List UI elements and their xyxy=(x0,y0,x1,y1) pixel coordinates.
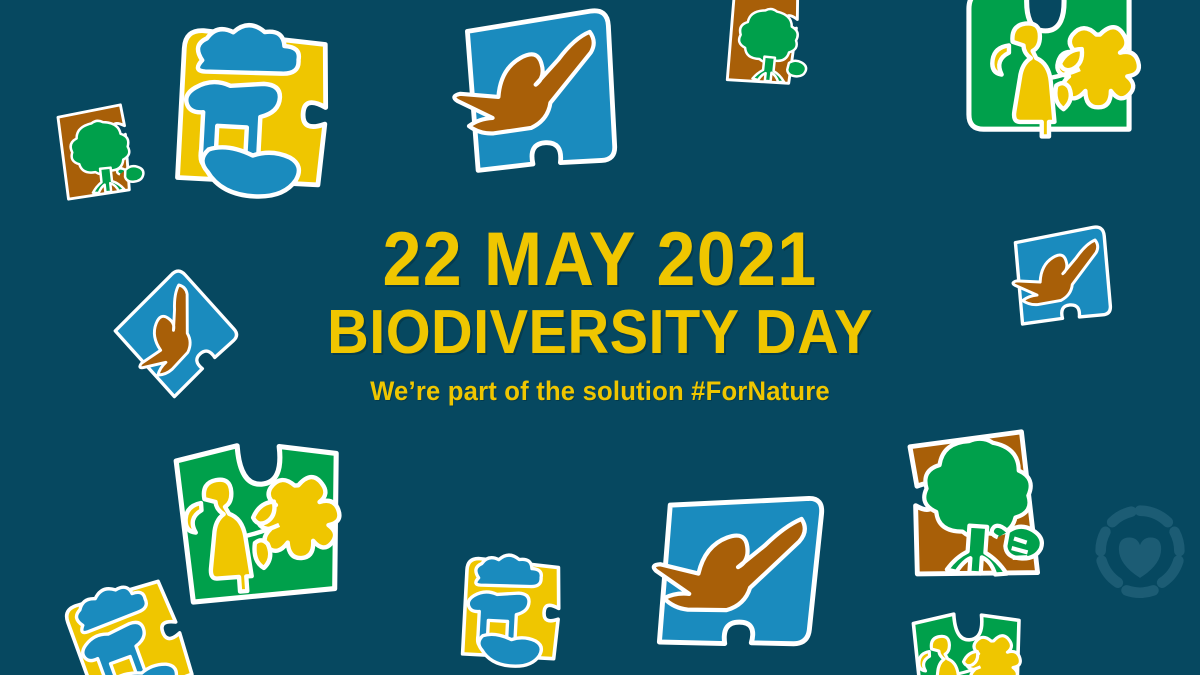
puzzle-piece-bird-top xyxy=(441,0,625,180)
girl-flower-puzzle-icon xyxy=(958,0,1140,154)
flying-bird-puzzle-icon xyxy=(625,474,842,670)
girl-flower-puzzle-icon xyxy=(903,601,1029,675)
puzzle-piece-tree-small-topleft xyxy=(47,98,160,204)
puzzle-piece-polarbear-bottomcenter xyxy=(445,545,572,675)
tree-bee-puzzle-icon xyxy=(47,98,160,204)
watermark-logo xyxy=(1092,503,1188,599)
tree-bee-puzzle-icon xyxy=(717,0,826,93)
puzzle-piece-girl-flower-bottomleft xyxy=(156,424,358,619)
girl-flower-puzzle-icon xyxy=(156,424,358,619)
headline-block: 22 MAY 2021 BIODIVERSITY DAY We’re part … xyxy=(0,222,1200,405)
flying-bird-puzzle-icon xyxy=(441,0,625,180)
headline-title: BIODIVERSITY DAY xyxy=(42,302,1158,364)
puzzle-piece-bird-bottom xyxy=(625,474,842,670)
puzzle-piece-polarbear-topleft xyxy=(150,7,345,221)
puzzle-piece-tree-small-top xyxy=(717,0,826,93)
puzzle-piece-tree-large-right xyxy=(884,413,1057,594)
puzzle-piece-girl-flower-topright xyxy=(958,0,1140,154)
tagline: We’re part of the solution #ForNature xyxy=(30,378,1170,405)
puzzle-piece-girl-flower-bottomright xyxy=(903,601,1029,675)
poster-canvas: 22 MAY 2021 BIODIVERSITY DAY We’re part … xyxy=(0,0,1200,675)
headline-date: 22 MAY 2021 xyxy=(48,222,1152,298)
polar-bear-puzzle-icon xyxy=(150,7,345,221)
tree-bee-puzzle-icon xyxy=(884,413,1057,594)
heart-in-dashed-circle-icon xyxy=(1092,503,1188,599)
polar-bear-puzzle-icon xyxy=(445,545,572,675)
